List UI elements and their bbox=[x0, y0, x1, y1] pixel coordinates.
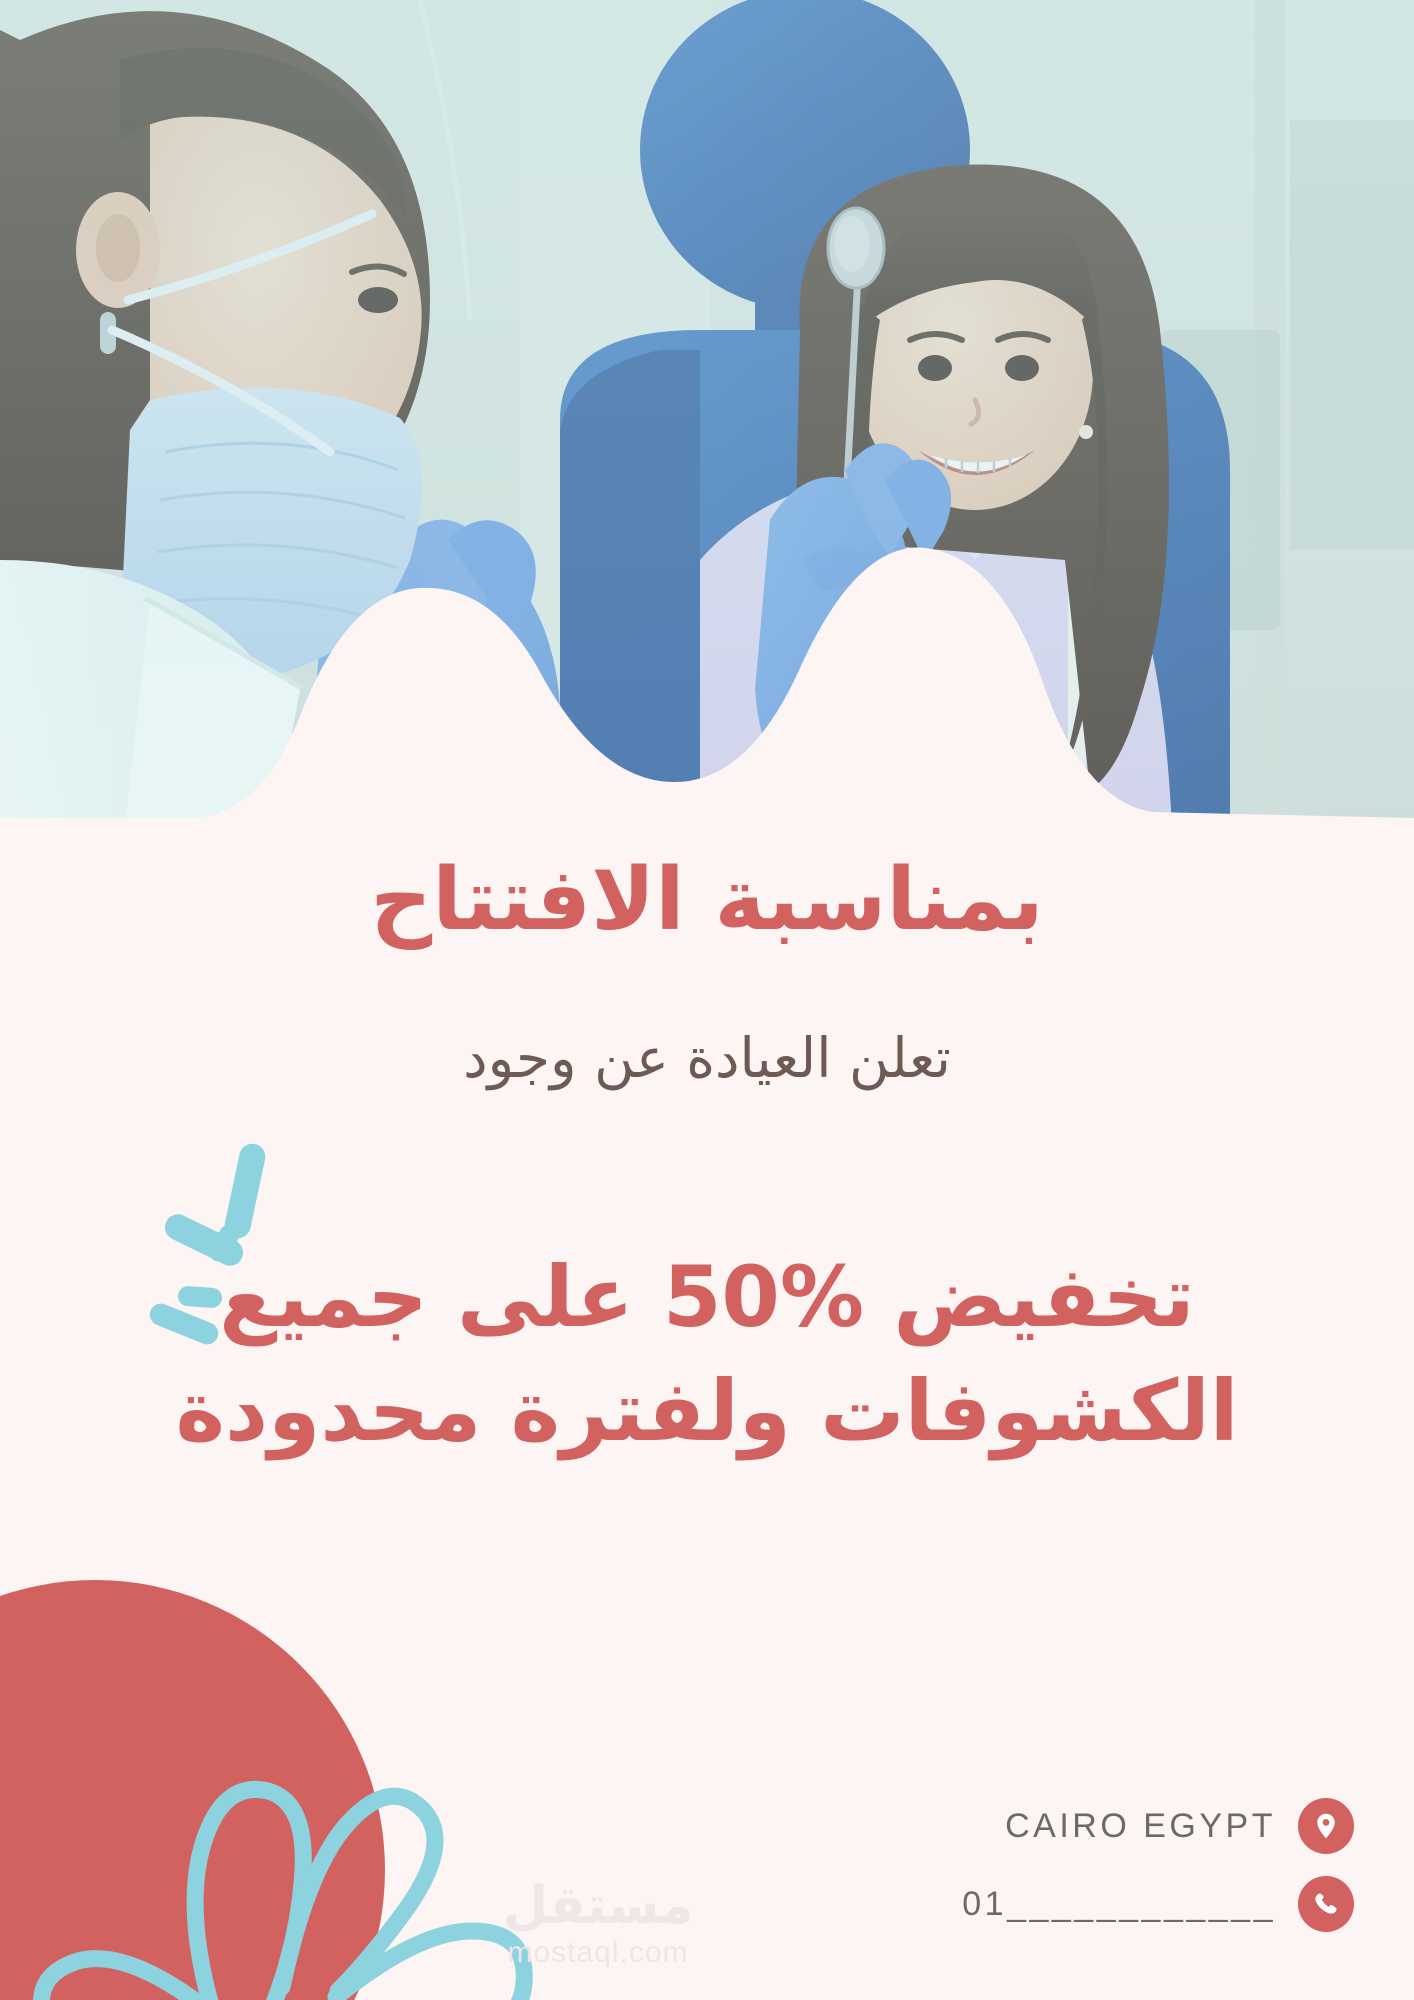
dental-clinic-promo-poster: بمناسبة الافتتاح تعلن العيادة عن وجود تخ… bbox=[0, 0, 1414, 2000]
watermark-url: mostaql.com bbox=[488, 1936, 708, 1970]
offer-line-2: الكشوفات ولفترة محدودة bbox=[0, 1354, 1414, 1468]
phone-icon[interactable] bbox=[1298, 1876, 1354, 1932]
leaf-outline-decoration bbox=[20, 1725, 540, 2000]
offer-line-1: تخفيض %50 على جميع bbox=[0, 1240, 1414, 1354]
page-title: بمناسبة الافتتاح bbox=[0, 855, 1414, 945]
footer-phone-row: 01____________ bbox=[962, 1876, 1354, 1932]
hero-photo-illustration bbox=[0, 0, 1414, 960]
location-pin-icon[interactable] bbox=[1298, 1798, 1354, 1854]
mostaql-watermark: مستقل mostaql.com bbox=[488, 1880, 708, 1970]
hero-photo bbox=[0, 0, 1414, 960]
offer-text: تخفيض %50 على جميع الكشوفات ولفترة محدود… bbox=[0, 1240, 1414, 1468]
phone-text: 01____________ bbox=[962, 1885, 1276, 1924]
watermark-logo-text: مستقل bbox=[488, 1880, 708, 1932]
subtitle: تعلن العيادة عن وجود bbox=[0, 1028, 1414, 1089]
location-text: CAIRO EGYPT bbox=[1005, 1807, 1276, 1846]
footer-location-row: CAIRO EGYPT bbox=[1005, 1798, 1354, 1854]
footer-contact: CAIRO EGYPT 01____________ bbox=[734, 1798, 1354, 1932]
